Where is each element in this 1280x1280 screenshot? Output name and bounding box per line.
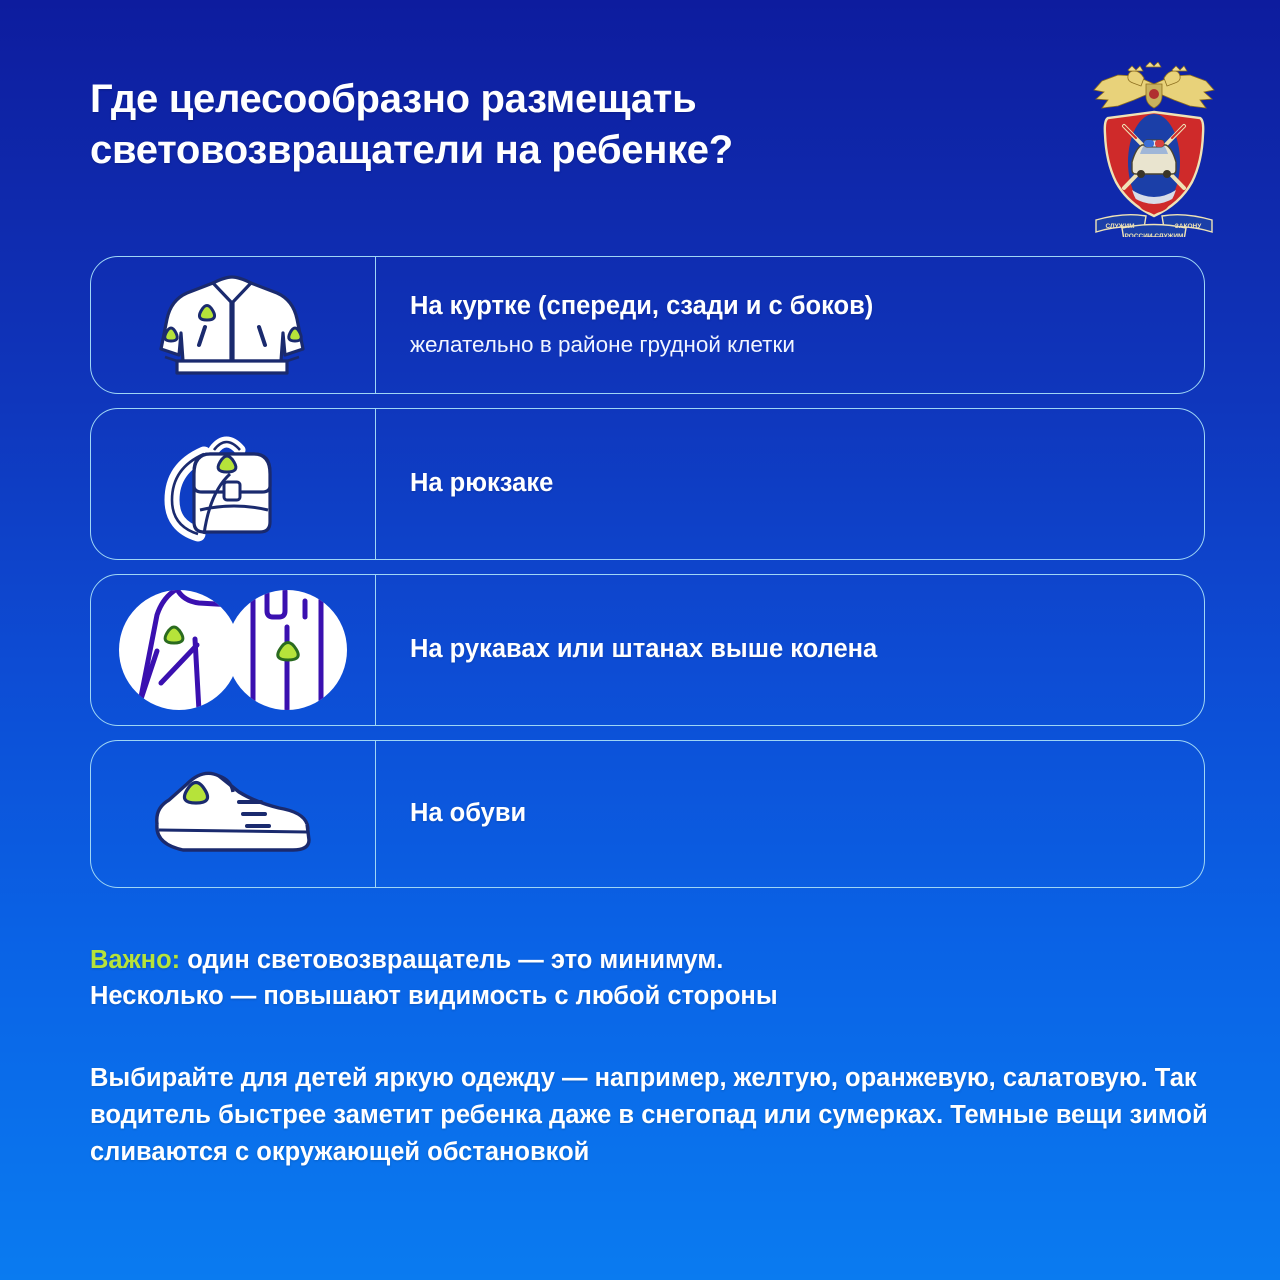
card-title: На обуви xyxy=(410,798,1170,830)
card-title: На куртке (спереди, сзади и с боков) xyxy=(410,291,1170,323)
emblem-ribbon-left: СЛУЖИМ xyxy=(1105,223,1134,230)
card-text-slot: На обуви xyxy=(376,741,1204,887)
placement-card-jacket[interactable]: На куртке (спереди, сзади и с боков) жел… xyxy=(90,256,1205,394)
sleeve-and-pants-icon xyxy=(117,587,349,713)
card-text-slot: На куртке (спереди, сзади и с боков) жел… xyxy=(376,257,1204,393)
page-title-line-1: Где целесообразно размещать xyxy=(90,74,733,125)
backpack-icon xyxy=(158,424,308,544)
placement-card-shoes[interactable]: На обуви xyxy=(90,740,1205,888)
emblem-ribbon-right: ЗАКОНУ xyxy=(1175,223,1202,230)
card-text-slot: На рюкзаке xyxy=(376,409,1204,559)
card-icon-slot xyxy=(91,409,376,559)
card-title: На рюкзаке xyxy=(410,468,1170,500)
important-line-2: Несколько — повышают видимость с любой с… xyxy=(90,978,1200,1014)
emblem-ribbon-center: РОССИИ СЛУЖИМ xyxy=(1125,233,1184,237)
card-subtitle: желательно в районе грудной клетки xyxy=(410,330,1170,359)
placement-card-sleeves-pants[interactable]: На рукавах или штанах выше колена xyxy=(90,574,1205,726)
card-icon-slot xyxy=(91,257,376,393)
header: Где целесообразно размещать световозвращ… xyxy=(90,74,1220,237)
page-title-line-2: световозвращатели на ребенке? xyxy=(90,125,733,176)
important-label: Важно: xyxy=(90,946,180,974)
gibdd-emblem-icon: СЛУЖИМ ЗАКОНУ РОССИИ СЛУЖИМ xyxy=(1088,62,1220,237)
card-text-slot: На рукавах или штанах выше колена xyxy=(376,575,1204,725)
placement-card-list: На куртке (спереди, сзади и с боков) жел… xyxy=(90,256,1205,902)
important-note: Важно: один световозвращатель — это мини… xyxy=(90,942,1200,1015)
placement-card-backpack[interactable]: На рюкзаке xyxy=(90,408,1205,560)
jacket-icon xyxy=(143,269,323,381)
card-icon-slot xyxy=(91,575,376,725)
important-line-1: Важно: один световозвращатель — это мини… xyxy=(90,942,1200,978)
sneaker-icon xyxy=(143,762,323,866)
card-icon-slot xyxy=(91,741,376,887)
advice-note: Выбирайте для детей яркую одежду — напри… xyxy=(90,1060,1215,1172)
page-title: Где целесообразно размещать световозвращ… xyxy=(90,74,733,176)
important-text: один световозвращатель — это минимум. xyxy=(180,946,723,974)
card-title: На рукавах или штанах выше колена xyxy=(410,634,1170,666)
